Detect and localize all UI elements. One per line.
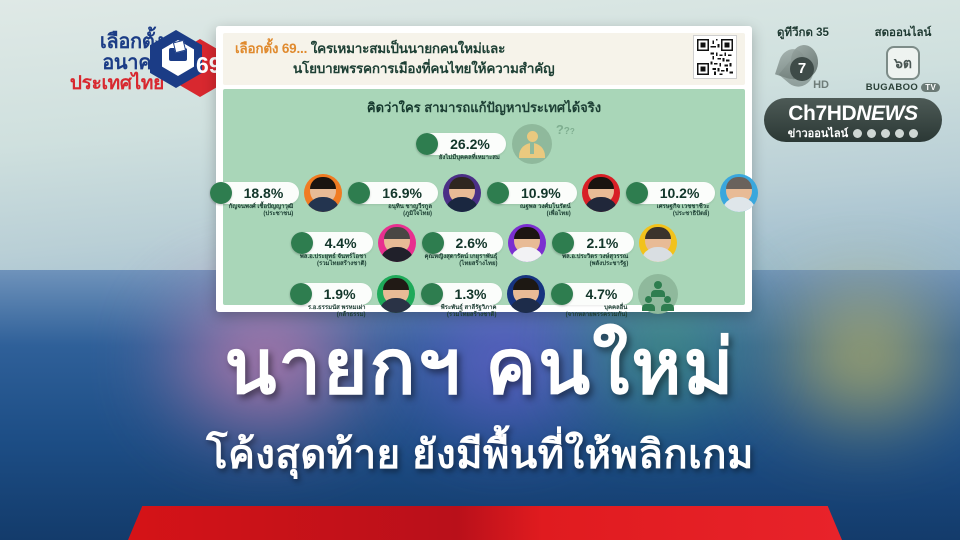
red-banner-shape	[128, 506, 842, 540]
poll-candidate-label: อนุทิน ชาญวีรกูล (ภูมิใจไทย)	[388, 204, 432, 219]
poll-candidate-label: พล.อ.ประวิตร วงษ์สุวรรณ (พลังประชารัฐ)	[562, 254, 628, 269]
ch7-hd-label: HD	[813, 79, 829, 91]
poll-dot-icon	[421, 283, 443, 305]
poll-candidate-label: พีระพันธุ์ สาลีรัฐวิภาค (รวมไทยสร้างชาติ…	[441, 305, 497, 320]
poll-bar: 1.9%ร.อ.ธรรมนัส พรหมเผ่า (กล้าธรรม)	[290, 283, 372, 305]
poll-entry: 10.2%เศรษฐกิจ เวชชาชีวะ (ประชาธิปัตย์)	[626, 174, 759, 212]
candidate-avatar	[508, 224, 546, 262]
poll-entry: 26.2%ยังไม่มีบุคคลที่เหมาะสม???	[416, 124, 552, 164]
campaign-logo-line2: อนาคต	[36, 53, 164, 74]
poll-entry: 1.3%พีระพันธุ์ สาลีรัฐวิภาค (รวมไทยสร้าง…	[421, 275, 546, 313]
main-headline: นายกฯ คนใหม่	[0, 326, 960, 410]
news-logo-text: Ch7HDNEWS	[764, 98, 942, 127]
poll-percent: 10.2%	[648, 185, 706, 201]
poll-entry: 18.8%กัญจนพงศ์ เชื้อปัญญาวุฒิ (ประชาชน)	[210, 174, 343, 212]
poll-candidate-label: คุณหญิงสุดารัตน์ เกยุราพันธุ์ (ไทยสร้างไ…	[425, 254, 498, 269]
poll-percent: 4.7%	[573, 286, 623, 302]
ch7-logo-icon: 7 HD	[777, 45, 829, 91]
poll-bar: 10.2%เศรษฐกิจ เวชชาชีวะ (ประชาธิปัตย์)	[626, 182, 716, 204]
poll-bar: 1.3%พีระพันธุ์ สาลีรัฐวิภาค (รวมไทยสร้าง…	[421, 283, 503, 305]
tv-caption: ดูทีวีกด 35	[760, 24, 846, 42]
news-sub-label: ข่าวออนไลน์	[788, 124, 848, 142]
ballot-icon	[169, 48, 187, 61]
question-marks-icon: ???	[556, 122, 575, 137]
row-2: 4.4%พล.อ.ประยุทธ์ จันทร์โอชา (รวมไทยสร้า…	[233, 224, 735, 262]
poll-entry: 2.6%คุณหญิงสุดารัตน์ เกยุราพันธุ์ (ไทยสร…	[422, 224, 547, 262]
poll-dot-icon	[416, 133, 438, 155]
dot-icon-1[interactable]	[867, 129, 876, 138]
poll-dot-icon	[422, 232, 444, 254]
tv-channel-block: ดูทีวีกด 35 7 HD	[760, 24, 846, 91]
candidate-avatar	[377, 275, 415, 313]
poll-bar: 4.4%พล.อ.ประยุทธ์ จันทร์โอชา (รวมไทยสร้า…	[291, 232, 373, 254]
poll-bar: 16.9%อนุทิน ชาญวีรกูล (ภูมิใจไทย)	[348, 182, 438, 204]
poll-percent: 1.9%	[312, 286, 362, 302]
candidate-avatar	[507, 275, 545, 313]
poll-candidate-label: ณฐพล วงศ์มโนรัตน์ (เพื่อไทย)	[520, 204, 571, 219]
online-stream-block: สดออนไลน์ ๖ต BUGABOO TV	[860, 24, 946, 93]
poll-bar: 10.9%ณฐพล วงศ์มโนรัตน์ (เพื่อไทย)	[487, 182, 577, 204]
candidate-avatar	[378, 224, 416, 262]
poll-bar: 2.6%คุณหญิงสุดารัตน์ เกยุราพันธุ์ (ไทยสร…	[422, 232, 504, 254]
poll-dot-icon	[291, 232, 313, 254]
poll-bar: 18.8%กัญจนพงศ์ เชื้อปัญญาวุฒิ (ประชาชน)	[210, 182, 300, 204]
broadcast-branding: ดูทีวีกด 35 7 HD สดออนไลน์ ๖ต BUGABOO TV…	[758, 24, 948, 132]
poll-candidate-label: ยังไม่มีบุคคลที่เหมาะสม	[439, 155, 500, 162]
poll-bar: 2.1%พล.อ.ประวิตร วงษ์สุวรรณ (พลังประชารั…	[552, 232, 634, 254]
poll-entry: 2.1%พล.อ.ประวิตร วงษ์สุวรรณ (พลังประชารั…	[552, 224, 677, 262]
poll-result-card: เลือกตั้ง 69... ใครเหมาะสมเป็นนายกคนใหม่…	[216, 26, 752, 312]
campaign-logo-text: เลือกตั้ง อนาคต ประเทศไทย	[36, 32, 164, 93]
sub-headline: โค้งสุดท้าย ยังมีพื้นที่ให้พลิกเกม	[0, 430, 960, 480]
dot-icon-4[interactable]	[909, 129, 918, 138]
panel-title: คิดว่าใคร สามารถแก้ปัญหาประเทศได้จริง	[233, 97, 735, 118]
card-header-line2: นโยบายพรรคการเมืองที่คนไทยให้ความสำคัญ	[235, 59, 737, 79]
poll-bar: 26.2%ยังไม่มีบุคคลที่เหมาะสม	[416, 133, 506, 155]
poll-dot-icon	[552, 232, 574, 254]
poll-entry: 1.9%ร.อ.ธรรมนัส พรหมเผ่า (กล้าธรรม)	[290, 275, 415, 313]
branding-top-row: ดูทีวีกด 35 7 HD สดออนไลน์ ๖ต BUGABOO TV	[758, 24, 948, 93]
bugaboo-label: BUGABOO	[866, 82, 918, 93]
poll-dot-icon	[487, 182, 509, 204]
poll-percent: 2.6%	[444, 235, 494, 251]
poll-candidate-label: บุคคลอื่น (จากหลายพรรครวมกัน)	[566, 305, 628, 320]
card-header: เลือกตั้ง 69... ใครเหมาะสมเป็นนายกคนใหม่…	[223, 33, 745, 85]
candidate-avatar	[304, 174, 342, 212]
bugaboo-tv-badge: TV	[921, 83, 940, 92]
candidate-avatar	[720, 174, 758, 212]
poll-entry: 4.7%บุคคลอื่น (จากหลายพรรครวมกัน)	[551, 274, 678, 314]
poll-candidate-label: กัญจนพงศ์ เชื้อปัญญาวุฒิ (ประชาชน)	[229, 204, 294, 219]
card-header-tag: เลือกตั้ง 69...	[235, 41, 307, 56]
poll-percent: 16.9%	[370, 185, 428, 201]
dot-icon-2[interactable]	[881, 129, 890, 138]
candidate-avatar	[582, 174, 620, 212]
poll-entry: 16.9%อนุทิน ชาญวีรกูล (ภูมิใจไทย)	[348, 174, 481, 212]
poll-percent: 10.9%	[509, 185, 567, 201]
poll-rows: 26.2%ยังไม่มีบุคคลที่เหมาะสม???18.8%กัญจ…	[233, 124, 735, 314]
poll-entry: 10.9%ณฐพล วงศ์มโนรัตน์ (เพื่อไทย)	[487, 174, 620, 212]
row-1: 18.8%กัญจนพงศ์ เชื้อปัญญาวุฒิ (ประชาชน)1…	[233, 174, 735, 212]
row-3: 1.9%ร.อ.ธรรมนัส พรหมเผ่า (กล้าธรรม)1.3%พ…	[233, 274, 735, 314]
card-header-line1: เลือกตั้ง 69... ใครเหมาะสมเป็นนายกคนใหม่…	[235, 39, 737, 59]
news-main: Ch7HD	[788, 102, 856, 125]
ch7-channel-number: 7	[790, 57, 814, 81]
group-people-icon	[638, 274, 678, 314]
row-undecided: 26.2%ยังไม่มีบุคคลที่เหมาะสม???	[233, 124, 735, 164]
poll-dot-icon	[626, 182, 648, 204]
poll-bar: 4.7%บุคคลอื่น (จากหลายพรรครวมกัน)	[551, 283, 633, 305]
ch7hd-news-pill: Ch7HDNEWS ข่าวออนไลน์	[764, 98, 942, 142]
poll-candidate-label: ร.อ.ธรรมนัส พรหมเผ่า (กล้าธรรม)	[308, 305, 366, 320]
panel-title-bold: คิดว่าใคร	[367, 100, 421, 115]
panel-title-rest: สามารถแก้ปัญหาประเทศได้จริง	[424, 100, 601, 115]
poll-dot-icon	[348, 182, 370, 204]
news-italic: NEWS	[856, 102, 917, 125]
poll-green-panel: คิดว่าใคร สามารถแก้ปัญหาประเทศได้จริง 26…	[223, 89, 745, 305]
candidate-avatar	[639, 224, 677, 262]
poll-percent: 18.8%	[232, 185, 290, 201]
dot-icon-3[interactable]	[895, 129, 904, 138]
facebook-icon[interactable]	[853, 129, 862, 138]
poll-percent: 4.4%	[313, 235, 363, 251]
bugaboo-caption: BUGABOO TV	[860, 82, 946, 93]
card-header-text1: ใครเหมาะสมเป็นนายกคนใหม่และ	[311, 41, 505, 56]
qr-code-icon[interactable]	[693, 35, 737, 79]
poll-candidate-label: พล.อ.ประยุทธ์ จันทร์โอชา (รวมไทยสร้างชาต…	[300, 254, 367, 269]
poll-percent: 1.3%	[443, 286, 493, 302]
online-caption: สดออนไลน์	[860, 24, 946, 42]
poll-dot-icon	[551, 283, 573, 305]
poll-percent: 2.1%	[574, 235, 624, 251]
bottom-red-banner	[0, 506, 960, 540]
poll-percent: 26.2%	[438, 136, 496, 152]
campaign-logo-line3: ประเทศไทย	[36, 74, 164, 94]
poll-candidate-label: เศรษฐกิจ เวชชาชีวะ (ประชาธิปัตย์)	[657, 204, 710, 219]
candidate-avatar	[443, 174, 481, 212]
poll-dot-icon	[290, 283, 312, 305]
poll-dot-icon	[210, 182, 232, 204]
campaign-logo-line1: เลือกตั้ง	[36, 32, 164, 53]
poll-entry: 4.4%พล.อ.ประยุทธ์ จันทร์โอชา (รวมไทยสร้า…	[291, 224, 416, 262]
person-question-icon: ???	[512, 124, 552, 164]
bugaboo-icon: ๖ต	[886, 46, 920, 80]
campaign-logo: เลือกตั้ง อนาคต ประเทศไทย 69	[36, 30, 226, 102]
